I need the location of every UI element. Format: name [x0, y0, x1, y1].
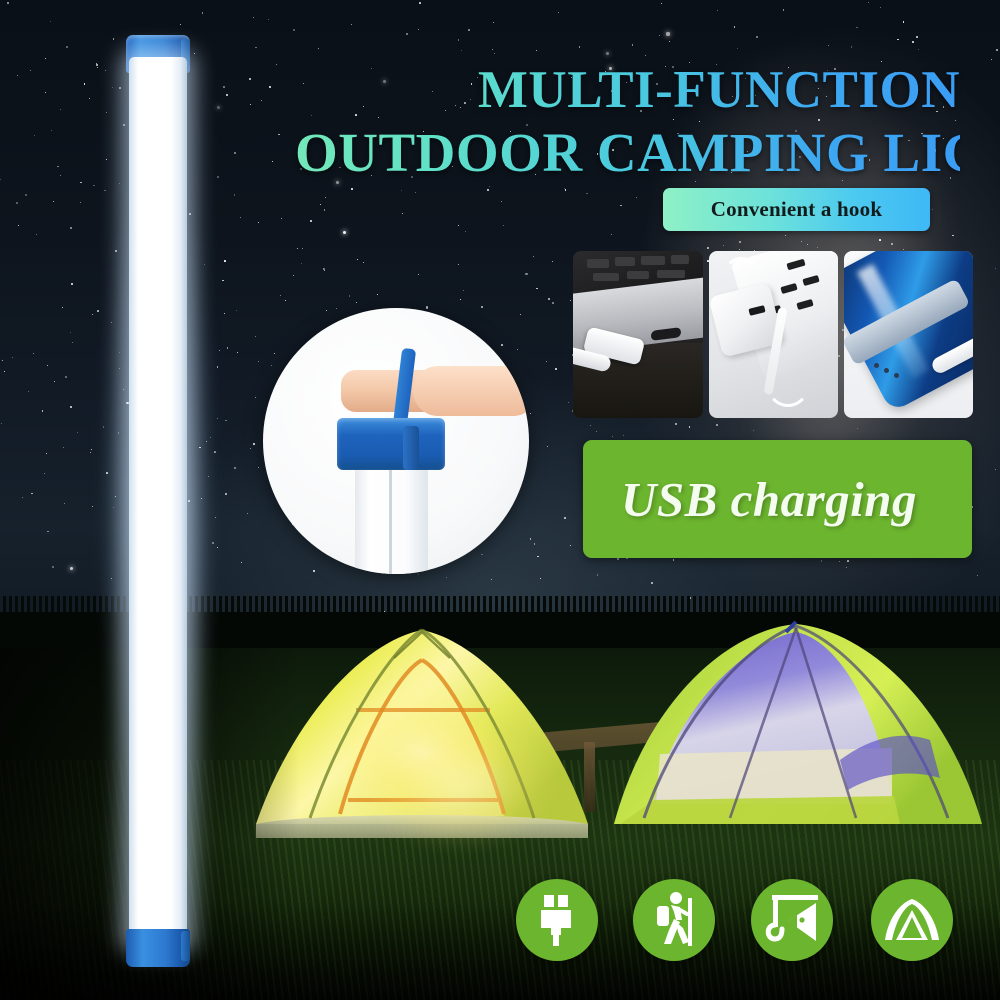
hiking-icon: [649, 892, 699, 948]
feature-fishing[interactable]: [751, 879, 833, 961]
closeup-tube-edge: [389, 460, 392, 574]
convenient-hook-badge-label: Convenient a hook: [711, 197, 882, 222]
charging-source-thumbnails: [573, 251, 973, 418]
feature-camping[interactable]: [871, 879, 953, 961]
feature-hiking[interactable]: [633, 879, 715, 961]
usb-charging-banner-label: USB charging: [621, 471, 917, 528]
light-bar-bottom-tab: [181, 931, 190, 961]
page-title: MULTI-FUNCTION OUTDOOR CAMPING LIGHT: [295, 62, 960, 182]
fishing-icon: [764, 893, 820, 947]
product-marketing-image: MULTI-FUNCTION OUTDOOR CAMPING LIGHT Con…: [0, 0, 1000, 1000]
tent-green-purple: [600, 618, 1000, 848]
hook-flip-closeup: [263, 308, 529, 574]
feature-icon-row: [516, 879, 956, 963]
title-line-2: OUTDOOR CAMPING LIGHT: [295, 123, 960, 182]
title-line-1: MULTI-FUNCTION: [295, 62, 960, 119]
tent-icon: [884, 897, 940, 943]
wall-adapter-power-strip-photo: [709, 251, 837, 418]
laptop-usb-port-photo: [573, 251, 703, 418]
usb-charging-banner: USB charging: [583, 440, 972, 558]
closeup-end-cap: [337, 418, 445, 470]
smartphone-charging-photo: [844, 251, 973, 418]
closeup-end-cap-side: [403, 426, 419, 470]
convenient-hook-badge: Convenient a hook: [663, 188, 930, 231]
feature-usb[interactable]: [516, 879, 598, 961]
light-bar-body: [129, 57, 187, 945]
closeup-finger-tip: [413, 366, 529, 416]
usb-icon: [534, 893, 580, 947]
led-light-bar-product: [123, 33, 193, 968]
